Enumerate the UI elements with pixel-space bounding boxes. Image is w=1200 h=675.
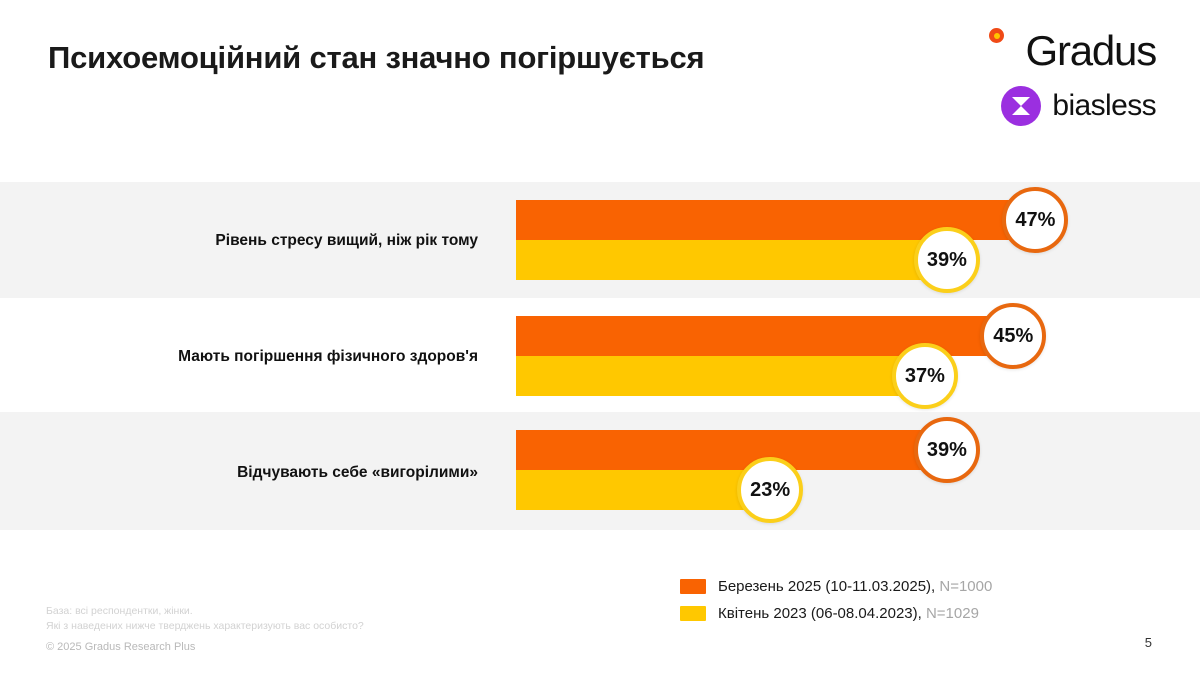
chart-bar: 39% — [516, 240, 947, 280]
chart-bar: 39% — [516, 430, 947, 470]
chart-value-bubble: 39% — [914, 227, 980, 293]
chart-row-label: Рівень стресу вищий, ніж рік тому — [0, 232, 478, 250]
legend-swatch — [680, 579, 706, 594]
biasless-wordmark: biasless — [1052, 91, 1156, 121]
legend-item: Квітень 2023 (06-08.04.2023), N=1029 — [680, 600, 992, 627]
footer: База: всі респондентки, жінки. Які з нав… — [46, 604, 364, 653]
chart-row-label: Відчувають себе «вигорілими» — [0, 464, 478, 482]
chart-value-bubble: 37% — [892, 343, 958, 409]
chart-bar: 23% — [516, 470, 770, 510]
chart-legend: Березень 2025 (10-11.03.2025), N=1000Кві… — [680, 573, 992, 627]
bar-chart: Рівень стресу вищий, ніж рік тому47%39%М… — [0, 182, 1200, 530]
gradus-wordmark: Gradus — [1025, 30, 1156, 72]
chart-row-bars: 47%39% — [516, 200, 1035, 280]
footer-base-note: База: всі респондентки, жінки. — [46, 604, 364, 619]
footer-copyright: © 2025 Gradus Research Plus — [46, 641, 364, 653]
legend-label: Березень 2025 (10-11.03.2025), — [718, 578, 939, 595]
biasless-logo: biasless — [971, 84, 1156, 128]
gradus-dot-icon — [989, 28, 1004, 43]
gradus-logo: Gradus — [971, 26, 1156, 76]
chart-value-bubble: 39% — [914, 417, 980, 483]
footer-question-note: Які з наведених нижче тверджень характер… — [46, 619, 364, 634]
chart-value-bubble: 47% — [1002, 187, 1068, 253]
logo-block: Gradus biasless — [971, 26, 1156, 128]
chart-value-bubble: 23% — [737, 457, 803, 523]
chart-row-label: Мають погіршення фізичного здоров'я — [0, 348, 478, 366]
page-title: Психоемоційний стан значно погіршується — [48, 40, 704, 76]
slide-canvas: Психоемоційний стан значно погіршується … — [0, 0, 1200, 675]
legend-sample-size: N=1029 — [926, 605, 979, 622]
legend-swatch — [680, 606, 706, 621]
chart-bar: 37% — [516, 356, 925, 396]
page-number: 5 — [1145, 635, 1152, 650]
legend-label-wrap: Березень 2025 (10-11.03.2025), N=1000 — [718, 578, 992, 596]
legend-label-wrap: Квітень 2023 (06-08.04.2023), N=1029 — [718, 605, 979, 623]
chart-row: Відчувають себе «вигорілими»39%23% — [0, 412, 1200, 530]
chart-row: Рівень стресу вищий, ніж рік тому47%39% — [0, 182, 1200, 298]
legend-sample-size: N=1000 — [939, 578, 992, 595]
chart-row-bars: 45%37% — [516, 316, 1013, 396]
chart-value-bubble: 45% — [980, 303, 1046, 369]
legend-item: Березень 2025 (10-11.03.2025), N=1000 — [680, 573, 992, 600]
hourglass-icon — [1001, 86, 1041, 126]
chart-row: Мають погіршення фізичного здоров'я45%37… — [0, 298, 1200, 412]
legend-label: Квітень 2023 (06-08.04.2023), — [718, 605, 926, 622]
chart-row-bars: 39%23% — [516, 430, 947, 510]
